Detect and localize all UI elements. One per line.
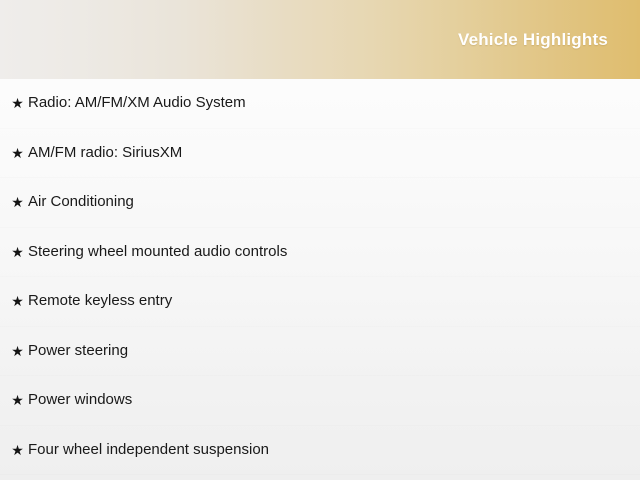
list-item-label: Radio: AM/FM/XM Audio System [28, 94, 246, 112]
list-item: ★ Power windows [0, 376, 640, 426]
highlights-list: ★ Radio: AM/FM/XM Audio System ★ AM/FM r… [0, 79, 640, 475]
list-item-label: Remote keyless entry [28, 292, 172, 310]
star-icon: ★ [7, 245, 28, 259]
list-item-label: AM/FM radio: SiriusXM [28, 144, 182, 162]
list-item-label: Four wheel independent suspension [28, 441, 269, 459]
page-title: Vehicle Highlights [458, 30, 608, 50]
list-item: ★ Air Conditioning [0, 178, 640, 228]
star-icon: ★ [7, 146, 28, 160]
star-icon: ★ [7, 195, 28, 209]
list-item: ★ AM/FM radio: SiriusXM [0, 129, 640, 179]
vehicle-highlights-panel: Vehicle Highlights ★ Radio: AM/FM/XM Aud… [0, 0, 640, 480]
list-item-label: Steering wheel mounted audio controls [28, 243, 287, 261]
list-item: ★ Remote keyless entry [0, 277, 640, 327]
star-icon: ★ [7, 344, 28, 358]
star-icon: ★ [7, 294, 28, 308]
list-item: ★ Four wheel independent suspension [0, 426, 640, 476]
star-icon: ★ [7, 96, 28, 110]
header-band: Vehicle Highlights [0, 0, 640, 79]
star-icon: ★ [7, 443, 28, 457]
star-icon: ★ [7, 393, 28, 407]
list-item-label: Power windows [28, 391, 132, 409]
list-item: ★ Steering wheel mounted audio controls [0, 228, 640, 278]
list-item-label: Power steering [28, 342, 128, 360]
list-item: ★ Power steering [0, 327, 640, 377]
list-item: ★ Radio: AM/FM/XM Audio System [0, 79, 640, 129]
list-item-label: Air Conditioning [28, 193, 134, 211]
